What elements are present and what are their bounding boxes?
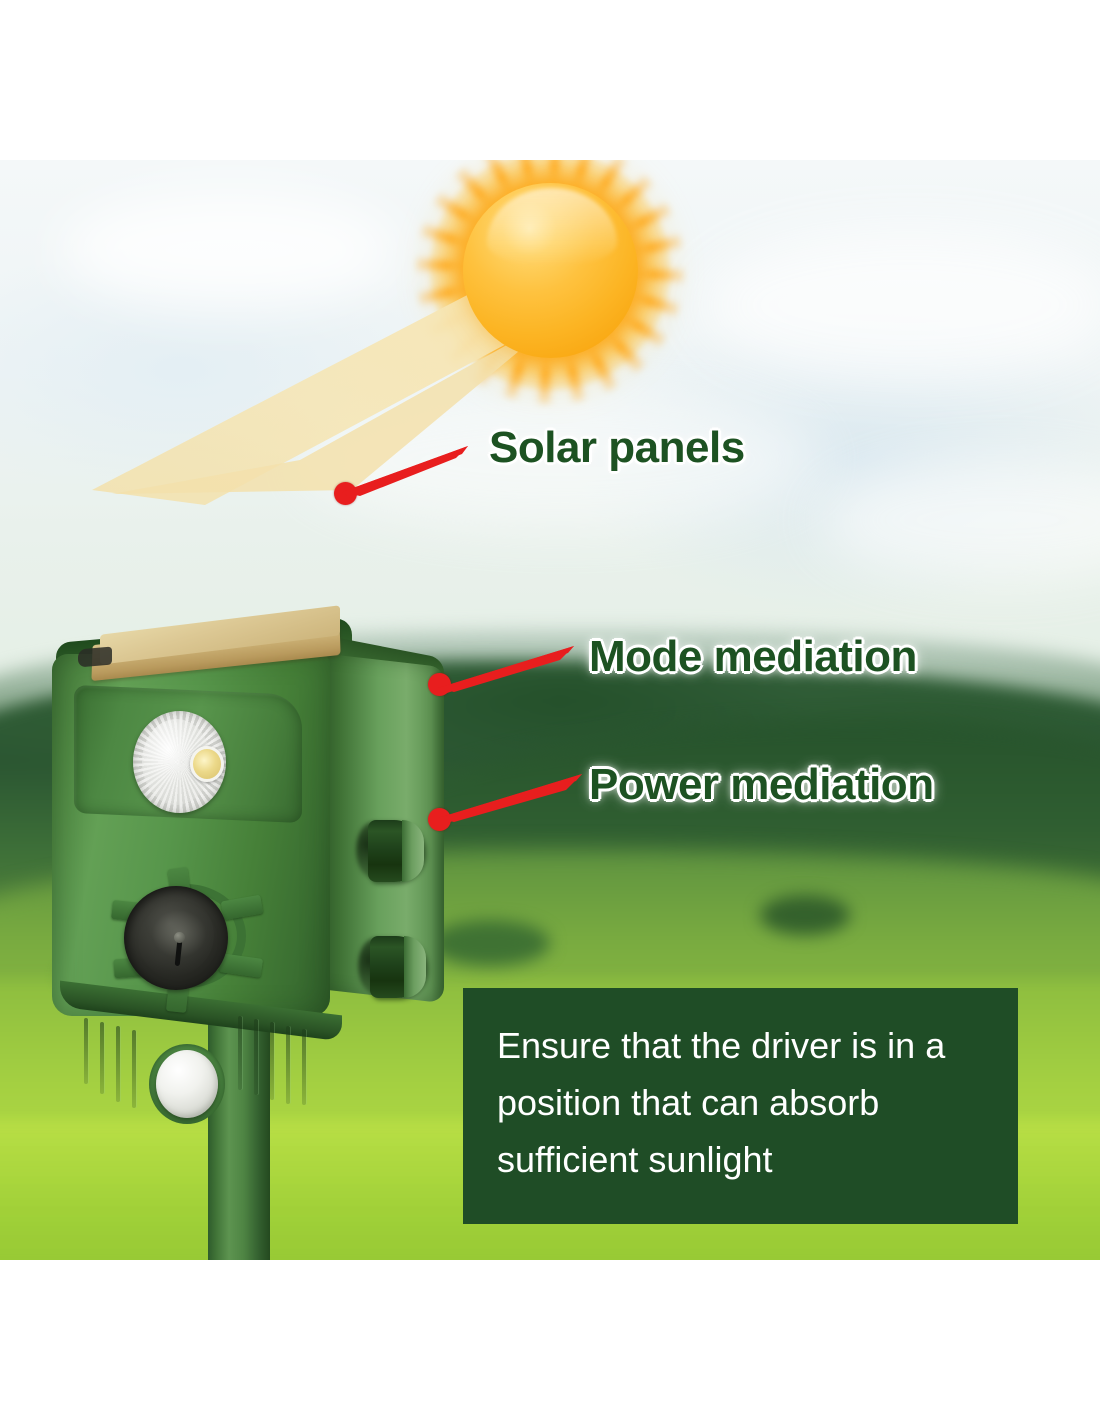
- horn-cone: [131, 895, 214, 976]
- callout-label-power-mediation: Power mediation: [589, 760, 934, 810]
- callout-arrow-solar-panels: [336, 440, 476, 500]
- callout-label-solar-panels: Solar panels: [489, 423, 745, 473]
- led-bulb: [190, 746, 224, 782]
- callout-label-mode-mediation: Mode mediation: [589, 632, 917, 682]
- caption-box: Ensure that the driver is in a position …: [463, 988, 1018, 1224]
- product-photo: Solar panels Mode mediation Power mediat…: [0, 160, 1100, 1260]
- horn-center-pin: [174, 932, 185, 943]
- caption-line-1: Ensure that the driver is in a: [497, 1018, 984, 1075]
- pir-motion-sensor: [156, 1050, 218, 1118]
- callout-arrow-mode-mediation: [432, 640, 582, 696]
- caption-line-2: position that can absorb: [497, 1075, 984, 1132]
- ultrasonic-horn-speaker: [124, 886, 228, 990]
- callout-arrow-power-mediation: [432, 768, 592, 826]
- panel-corner-clip: [78, 647, 112, 668]
- caption-line-3: sufficient sunlight: [497, 1132, 984, 1189]
